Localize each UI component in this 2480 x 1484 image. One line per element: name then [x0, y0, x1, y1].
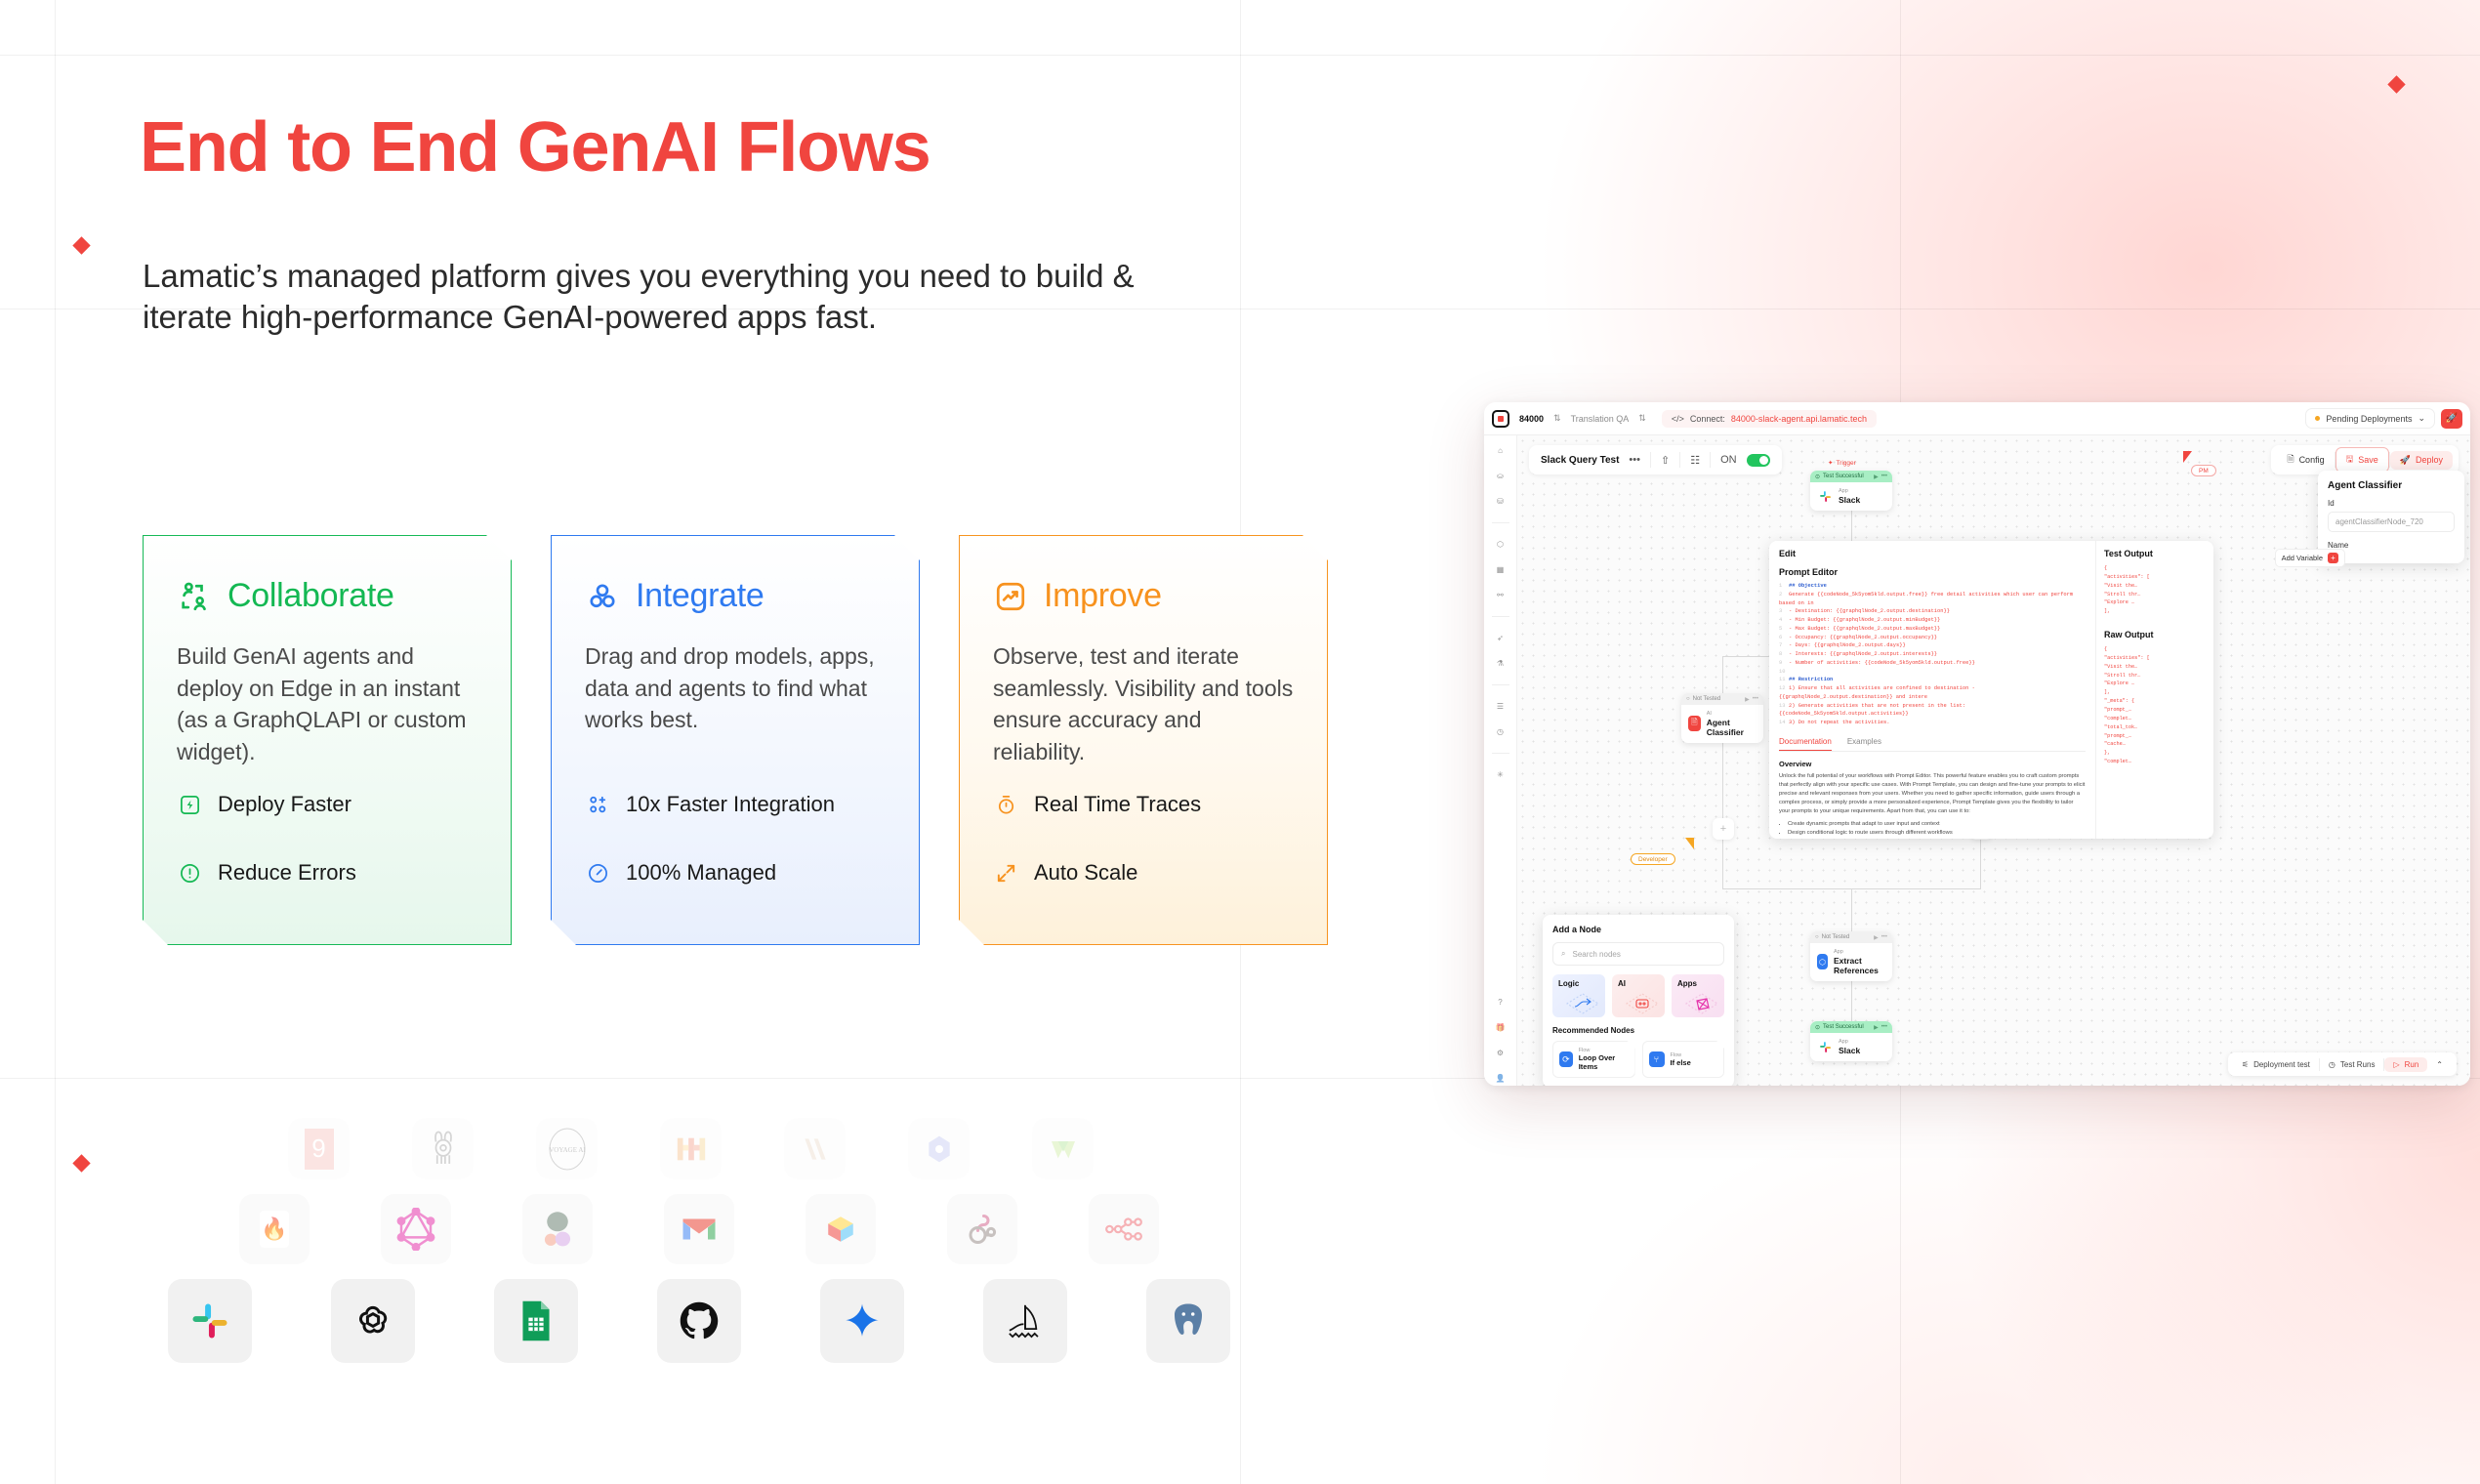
feature-card-integrate[interactable]: Integrate Drag and drop models, apps, da…: [551, 535, 920, 945]
test-output-body: { "activities": [ "Visit the… "Stroll th…: [2104, 564, 2206, 616]
page-title: End to End GenAI Flows: [140, 112, 930, 183]
play-icon: ▶: [1874, 474, 1879, 480]
prompt-code-block[interactable]: 1## Objective 2Generate {{codeNode_5k5yo…: [1779, 582, 2086, 727]
app-topbar: 84000 ⇅ Translation QA ⇅ </> Connect: 84…: [1484, 402, 2470, 435]
more-icon: •••: [1881, 474, 1887, 480]
card-header: Collaborate: [177, 577, 477, 615]
raw-output-title: Raw Output: [2104, 630, 2206, 639]
deploy-button[interactable]: 🚀 Deploy: [2390, 451, 2453, 470]
gift-icon[interactable]: 🎁: [1493, 1020, 1508, 1035]
prompt-editor-title: Prompt Editor: [1779, 567, 2086, 577]
stopwatch-icon: ◷: [2329, 1060, 2335, 1069]
doc-bullet: Design conditional logic to route users …: [1788, 829, 2086, 838]
recommended-node-name: If else: [1671, 1058, 1691, 1067]
node-search-input[interactable]: ⌕ Search nodes: [1552, 942, 1724, 966]
app-body: ⌂ ⛀ ⛁ ⬡ ▦ ⚯ ➶ ⚗ ☰ ◷ ✳ ? 🎁 ⚙ 👤 Slack Quer…: [1484, 435, 2470, 1086]
card-description: Drag and drop models, apps, data and age…: [585, 640, 886, 736]
add-variable-label: Add Variable: [2282, 554, 2323, 562]
node-status: ⊙ Test Successful ▶•••: [1810, 1021, 1892, 1033]
save-icon: 🖫: [2346, 452, 2354, 468]
connect-label: Connect:: [1690, 414, 1725, 424]
play-icon: ▷: [2393, 1060, 2399, 1069]
circle-icon: ○: [1815, 934, 1819, 940]
flow-canvas[interactable]: Slack Query Test ••• ⇧ ☷ ON 🗎 Config 🖫: [1517, 435, 2470, 1086]
recommended-node-text: Flow If else: [1671, 1052, 1691, 1067]
play-icon: ▶: [1874, 1024, 1879, 1031]
node-name-label: Name: [2328, 541, 2455, 550]
bolt-square-icon: [177, 792, 202, 817]
node-actions[interactable]: ▶•••: [1874, 474, 1887, 480]
code-line: 1## Objective: [1779, 582, 2086, 591]
node-search-placeholder: Search nodes: [1572, 950, 1620, 959]
code-line: 132) Generate activities that are not pr…: [1779, 702, 2086, 720]
spark-icon: ✦: [1828, 459, 1833, 467]
postgresql-logo: [1146, 1279, 1230, 1363]
prompt-editor-column: Edit Prompt Editor 1## Objective 2Genera…: [1769, 541, 2096, 839]
collapse-button[interactable]: ⌃: [2427, 1057, 2452, 1072]
gmail-logo: [664, 1194, 734, 1264]
cursor-pointer-icon: [2183, 451, 2192, 463]
code-line: 3- Destination: {{graphqlNode_2.output.d…: [1779, 607, 2086, 616]
ai-node-icon: 🗎: [1688, 716, 1701, 731]
bullet-item: Auto Scale: [993, 860, 1296, 886]
flow-node[interactable]: ⊙ Test Successful ▶••• App Slack: [1810, 1021, 1892, 1061]
chevron-down-icon: ⌄: [2418, 413, 2425, 424]
cursor-label-pm: PM: [2191, 465, 2216, 476]
recommended-node-text: Flow Loop Over Items: [1579, 1048, 1629, 1071]
documentation-body: Overview Unlock the full potential of yo…: [1779, 759, 2086, 839]
cube-icon[interactable]: ⬡: [1493, 537, 1508, 552]
database-icon[interactable]: ⛁: [1493, 494, 1508, 509]
node-categories: Logic AI Apps: [1552, 974, 1724, 1017]
topbar-right: Pending Deployments ⌄ 🚀: [2305, 408, 2462, 429]
output-line: "prompt_…: [2104, 706, 2206, 715]
recommended-nodes-title: Recommended Nodes: [1552, 1026, 1724, 1035]
code-line: 5- Max Budget: {{graphqlNode_2.output.ma…: [1779, 625, 2086, 634]
rocket-icon: 🚀: [2400, 455, 2411, 466]
code-line: 2Generate {{codeNode_5k5yom5kld.output.f…: [1779, 591, 2086, 608]
logo-row-1: 9 VOYAGE AI: [288, 1118, 1309, 1179]
play-icon: ▶: [1745, 696, 1750, 703]
output-line: "Stroll thr…: [2104, 672, 2206, 680]
add-node-title: Add a Node: [1552, 925, 1724, 934]
project-id[interactable]: 84000: [1519, 414, 1544, 424]
node-status-label: Test Successful: [1823, 474, 1864, 479]
voyage-ai-logo: VOYAGE AI: [536, 1118, 598, 1179]
google-sheets-logo: [494, 1279, 578, 1363]
product-screenshot: 84000 ⇅ Translation QA ⇅ </> Connect: 84…: [1484, 402, 2470, 1086]
logo-row-2: 🔥: [239, 1194, 1309, 1264]
sidebar-divider: [1492, 616, 1509, 617]
category-logic[interactable]: Logic: [1552, 974, 1605, 1017]
huggingface-logo: [947, 1194, 1017, 1264]
bullet-label: Reduce Errors: [218, 860, 356, 886]
gauge-icon: [585, 860, 610, 886]
logo-row-3: [168, 1279, 1309, 1363]
bullet-label: Auto Scale: [1034, 860, 1137, 886]
trigger-label: ✦ Trigger: [1828, 459, 1856, 467]
share-nodes-icon[interactable]: ⛀: [1493, 469, 1508, 483]
integration-logo-grid: 9 VOYAGE AI: [146, 1118, 1309, 1363]
add-node-panel[interactable]: Add a Node ⌕ Search nodes Logic AI: [1543, 915, 1734, 1086]
code-line: 11## Restriction: [1779, 676, 2086, 684]
node-body: App Slack: [1810, 482, 1892, 511]
check-circle-icon: ⊙: [1815, 1024, 1820, 1031]
node-body: App Slack: [1810, 1033, 1892, 1061]
flow-toolbar: Slack Query Test ••• ⇧ ☷ ON: [1529, 445, 1782, 474]
share-icon[interactable]: ⇧: [1661, 454, 1670, 467]
openai-logo: [331, 1279, 415, 1363]
sidebar-divider: [1492, 753, 1509, 754]
node-kind: AI: [1707, 711, 1757, 718]
card-title: Improve: [1044, 577, 1162, 615]
trigger-text: Trigger: [1836, 460, 1855, 467]
stopwatch-icon: [993, 792, 1018, 817]
bullet-label: Deploy Faster: [218, 792, 351, 817]
check-circle-icon: ⊙: [1815, 474, 1820, 480]
toolbar-divider: [1679, 452, 1680, 468]
node-text: App Extract References: [1834, 949, 1885, 975]
bullet-label: 10x Faster Integration: [626, 792, 835, 817]
code-line: 7- Days: {{graphqlNode_2.output.days}}: [1779, 641, 2086, 650]
contentful-logo: [806, 1194, 876, 1264]
sidebar-divider: [1492, 684, 1509, 685]
flow-bottom-bar: ⚟ Deployment test ◷ Test Runs ▷ Run ⌃: [2228, 1052, 2457, 1076]
card-header: Integrate: [585, 577, 886, 615]
deployment-test-label: Deployment test: [2253, 1060, 2310, 1069]
search-icon: ⌕: [1561, 949, 1565, 959]
overview-title: Overview: [1779, 759, 2086, 770]
output-line: ],: [2104, 688, 2206, 697]
save-label: Save: [2358, 455, 2378, 465]
category-label: Logic: [1558, 979, 1579, 988]
edit-header: Edit: [1779, 549, 2086, 558]
node-id-input[interactable]: agentClassifierNode_720: [2328, 512, 2455, 532]
node-status-label: Not Tested: [1822, 934, 1850, 940]
llamaindex-logo: [983, 1279, 1067, 1363]
save-button[interactable]: 🖫 Save: [2335, 447, 2389, 473]
mistral-logo: [660, 1118, 722, 1179]
flow-enabled-toggle[interactable]: [1747, 454, 1770, 467]
circle-icon: ○: [1686, 696, 1690, 702]
anthropic-logo: [784, 1118, 846, 1179]
node-kind: App: [1839, 488, 1860, 495]
overview-body: Unlock the full potential of your workfl…: [1779, 772, 2086, 816]
doc-tabs: Documentation Examples: [1779, 737, 2086, 752]
alert-circle-icon: [177, 860, 202, 886]
config-button[interactable]: 🗎 Config: [2277, 448, 2334, 472]
test-output-title: Test Output: [2104, 549, 2206, 558]
node-body: 🗎 AI Agent Classifier: [1681, 705, 1763, 743]
cursor-pointer-icon: [1685, 838, 1694, 849]
node-kind: App: [1834, 949, 1885, 956]
github-logo: [657, 1279, 741, 1363]
environment-selector[interactable]: Translation QA: [1571, 414, 1630, 424]
trend-up-square-icon: [993, 579, 1028, 614]
deployment-test-button[interactable]: ⚟ Deployment test: [2233, 1057, 2319, 1072]
add-variable-button[interactable]: Add Variable +: [2275, 549, 2345, 567]
node-body: ⬡ App Extract References: [1810, 943, 1892, 981]
prompt-edit-panel[interactable]: Edit Prompt Editor 1## Objective 2Genera…: [1769, 541, 2213, 839]
models-icon[interactable]: ⚯: [1493, 588, 1508, 602]
output-line: "activities": [: [2104, 654, 2206, 663]
doc-bullets: Create dynamic prompts that adapt to use…: [1788, 820, 2086, 838]
cursor-label-developer: Developer: [1631, 853, 1675, 865]
flow-edge: [1851, 978, 1852, 1021]
node-actions[interactable]: ▶•••: [1874, 934, 1887, 941]
bullet-item: Deploy Faster: [177, 792, 479, 817]
card-description: Build GenAI agents and deploy on Edge in…: [177, 640, 477, 768]
recommended-node-item[interactable]: ⑂ Flow If else: [1642, 1041, 1725, 1078]
sidebar-divider: [1492, 522, 1509, 523]
svg-text:VOYAGE AI: VOYAGE AI: [549, 1146, 586, 1154]
bullet-label: Real Time Traces: [1034, 792, 1201, 817]
output-line: "cache…: [2104, 740, 2206, 749]
play-icon: ▶: [1874, 934, 1879, 941]
recommended-node-item[interactable]: ⟳ Flow Loop Over Items: [1552, 1041, 1635, 1078]
branch-icon: ⑂: [1649, 1051, 1665, 1067]
loop-icon: ⟳: [1559, 1051, 1573, 1067]
clock-icon[interactable]: ◷: [1493, 724, 1508, 739]
three-circles-icon: [585, 579, 620, 614]
config-icon: 🗎: [2287, 452, 2294, 468]
page-subtitle: Lamatic’s managed platform gives you eve…: [143, 256, 1197, 338]
node-actions[interactable]: ▶•••: [1874, 1024, 1887, 1031]
category-apps[interactable]: Apps: [1672, 974, 1724, 1017]
node-text: App Slack: [1839, 1039, 1860, 1055]
feature-card-improve[interactable]: Improve Observe, test and iterate seamle…: [959, 535, 1328, 945]
card-title: Integrate: [636, 577, 765, 615]
flow-edge: [1722, 656, 1723, 693]
node-name: Slack: [1839, 495, 1860, 505]
deploy-label: Deploy: [2416, 455, 2443, 465]
toolbar-divider: [1710, 452, 1711, 468]
bullet-label: 100% Managed: [626, 860, 776, 886]
list-view-icon[interactable]: ☷: [1690, 454, 1700, 467]
run-label: Run: [2405, 1060, 2419, 1069]
more-icon: •••: [1881, 1024, 1887, 1031]
ollama-logo: [412, 1118, 474, 1179]
output-line: "total_tok…: [2104, 723, 2206, 732]
widgets-icon[interactable]: ▦: [1493, 562, 1508, 577]
config-label: Config: [2299, 455, 2325, 465]
neo4j-logo: [1089, 1194, 1159, 1264]
pending-deployments-button[interactable]: Pending Deployments ⌄: [2305, 408, 2435, 429]
help-circle-icon[interactable]: ?: [1493, 995, 1508, 1010]
card-bullets: 10x Faster Integration 100% Managed: [585, 792, 888, 886]
node-panel-title: Agent Classifier: [2328, 480, 2455, 491]
output-line: "activities": [: [2104, 573, 2206, 582]
code-line: 121) Ensure that all activities are conf…: [1779, 684, 2086, 702]
more-options-icon[interactable]: •••: [1629, 454, 1640, 466]
gear-icon[interactable]: ⚙: [1493, 1046, 1508, 1060]
user-icon[interactable]: 👤: [1493, 1071, 1508, 1086]
code-line: 143) Do not repeat the activities.: [1779, 719, 2086, 727]
code-icon: </>: [1672, 414, 1684, 424]
output-line: ],: [2104, 607, 2206, 616]
bullet-item: Reduce Errors: [177, 860, 479, 886]
node-name: Agent Classifier: [1707, 718, 1757, 737]
doc-bullet: Create dynamic prompts that adapt to use…: [1788, 820, 2086, 829]
node-actions[interactable]: ▶•••: [1745, 696, 1758, 703]
test-runs-button[interactable]: ◷ Test Runs: [2320, 1057, 2384, 1072]
groq-logo: 9: [288, 1118, 350, 1179]
test-runs-label: Test Runs: [2340, 1060, 2376, 1069]
category-ai[interactable]: AI: [1612, 974, 1665, 1017]
weaviate-logo: [1032, 1118, 1094, 1179]
raw-output-body: { "activities": [ "Visit the… "Stroll th…: [2104, 645, 2206, 766]
node-text: AI Agent Classifier: [1707, 711, 1757, 737]
node-text: App Slack: [1839, 488, 1860, 505]
tab-documentation[interactable]: Documentation: [1779, 737, 1832, 751]
connect-url-pill[interactable]: </> Connect: 84000-slack-agent.api.lamat…: [1662, 410, 1877, 428]
code-line: 10: [1779, 668, 2086, 677]
pending-deployments-label: Pending Deployments: [2326, 414, 2412, 424]
list-icon[interactable]: ☰: [1493, 699, 1508, 714]
cohere-logo: [522, 1194, 593, 1264]
rocket-icon[interactable]: 🚀: [2441, 409, 2462, 429]
card-title: Collaborate: [227, 577, 394, 615]
card-header: Improve: [993, 577, 1294, 615]
output-line: "Visit the…: [2104, 582, 2206, 591]
flow-node[interactable]: ○ Not Tested ▶••• 🗎 AI Agent Classifier: [1681, 693, 1763, 743]
code-line: 4- Min Budget: {{graphqlNode_2.output.mi…: [1779, 616, 2086, 625]
home-icon[interactable]: ⌂: [1493, 443, 1508, 458]
flask-icon[interactable]: ⚗: [1493, 656, 1508, 671]
plus-icon: +: [2328, 553, 2338, 563]
code-line: 9- Number of activities: {{codeNode_5k5y…: [1779, 659, 2086, 668]
node-status: ⊙ Test Successful ▶•••: [1810, 471, 1892, 482]
graphql-logo: [381, 1194, 451, 1264]
sliders-icon: ⚟: [2242, 1060, 2249, 1069]
slack-icon: [1817, 488, 1833, 504]
card-description: Observe, test and iterate seamlessly. Vi…: [993, 640, 1294, 768]
app-sidebar: ⌂ ⛀ ⛁ ⬡ ▦ ⚯ ➶ ⚗ ☰ ◷ ✳ ? 🎁 ⚙ 👤: [1484, 435, 1517, 1086]
code-line: 6- Occupancy: {{graphqlNode_2.output.occ…: [1779, 634, 2086, 642]
lamatic-logo-icon: [1492, 410, 1509, 428]
test-output-column: Test Output { "activities": [ "Visit the…: [2096, 541, 2213, 839]
output-line: {: [2104, 564, 2206, 573]
feature-cards: Collaborate Build GenAI agents and deplo…: [143, 535, 1328, 945]
node-status: ○ Not Tested ▶•••: [1681, 693, 1763, 705]
firecrawl-logo: 🔥: [239, 1194, 310, 1264]
output-line: {: [2104, 645, 2206, 654]
more-icon: •••: [1881, 934, 1887, 941]
bullet-item: 100% Managed: [585, 860, 888, 886]
more-icon: •••: [1753, 696, 1758, 703]
feature-card-collaborate[interactable]: Collaborate Build GenAI agents and deplo…: [143, 535, 512, 945]
node-status: ○ Not Tested ▶•••: [1810, 931, 1892, 943]
add-user-icon: [585, 792, 610, 817]
card-bullets: Real Time Traces Auto Scale: [993, 792, 1296, 886]
slack-icon: [1817, 1039, 1833, 1054]
status-dot-icon: [2315, 416, 2320, 421]
recommended-nodes-list: ⟳ Flow Loop Over Items ⑂ Flow If else: [1552, 1041, 1724, 1078]
expand-arrows-icon: [993, 860, 1018, 886]
node-status-label: Not Tested: [1693, 696, 1721, 702]
environment-chevron-icon[interactable]: ⇅: [1638, 413, 1646, 424]
toggle-label: ON: [1720, 454, 1737, 466]
node-status-label: Test Successful: [1823, 1024, 1864, 1030]
bullet-item: Real Time Traces: [993, 792, 1296, 817]
toolbar-divider: [1650, 452, 1651, 468]
connect-url[interactable]: 84000-slack-agent.api.lamatic.tech: [1731, 414, 1867, 424]
node-id-label: Id: [2328, 499, 2455, 508]
rocket-icon[interactable]: ➶: [1493, 631, 1508, 645]
category-label: AI: [1618, 979, 1626, 988]
app-node-icon: ⬡: [1817, 954, 1828, 969]
add-node-button[interactable]: +: [1713, 818, 1734, 840]
chevron-up-icon: ⌃: [2436, 1060, 2443, 1069]
node-kind: App: [1839, 1039, 1860, 1046]
output-line: "Explore …: [2104, 598, 2206, 607]
output-line: "Stroll thr…: [2104, 591, 2206, 599]
output-line: "Explore …: [2104, 680, 2206, 688]
node-name: Slack: [1839, 1046, 1860, 1055]
code-line: 8- Interests: {{graphqlNode_2.output.int…: [1779, 650, 2086, 659]
run-button[interactable]: ▷ Run: [2384, 1057, 2427, 1072]
output-line: "Visit the…: [2104, 663, 2206, 672]
tab-examples[interactable]: Examples: [1847, 737, 1881, 751]
category-label: Apps: [1677, 979, 1697, 988]
bullet-item: 10x Faster Integration: [585, 792, 888, 817]
users-group-icon: [177, 579, 212, 614]
flow-name[interactable]: Slack Query Test: [1541, 455, 1619, 466]
qdrant-logo: [908, 1118, 970, 1179]
flow-node[interactable]: ⊙ Test Successful ▶••• App Slack: [1810, 471, 1892, 511]
flow-edge: [1851, 888, 1852, 931]
node-name: Extract References: [1834, 956, 1885, 975]
output-line: "complet…: [2104, 758, 2206, 766]
output-line: },: [2104, 749, 2206, 758]
slack-logo: [168, 1279, 252, 1363]
flow-node[interactable]: ○ Not Tested ▶••• ⬡ App Extract Referenc…: [1810, 931, 1892, 981]
flow-edge: [1722, 730, 1723, 888]
gemini-logo: [820, 1279, 904, 1363]
settings-node-icon[interactable]: ✳: [1493, 767, 1508, 782]
output-line: "complet…: [2104, 715, 2206, 723]
output-line: "_meta": {: [2104, 697, 2206, 706]
project-chevron-icon[interactable]: ⇅: [1553, 413, 1561, 424]
output-line: "prompt_…: [2104, 732, 2206, 741]
recommended-node-name: Loop Over Items: [1579, 1053, 1629, 1071]
card-bullets: Deploy Faster Reduce Errors: [177, 792, 479, 886]
